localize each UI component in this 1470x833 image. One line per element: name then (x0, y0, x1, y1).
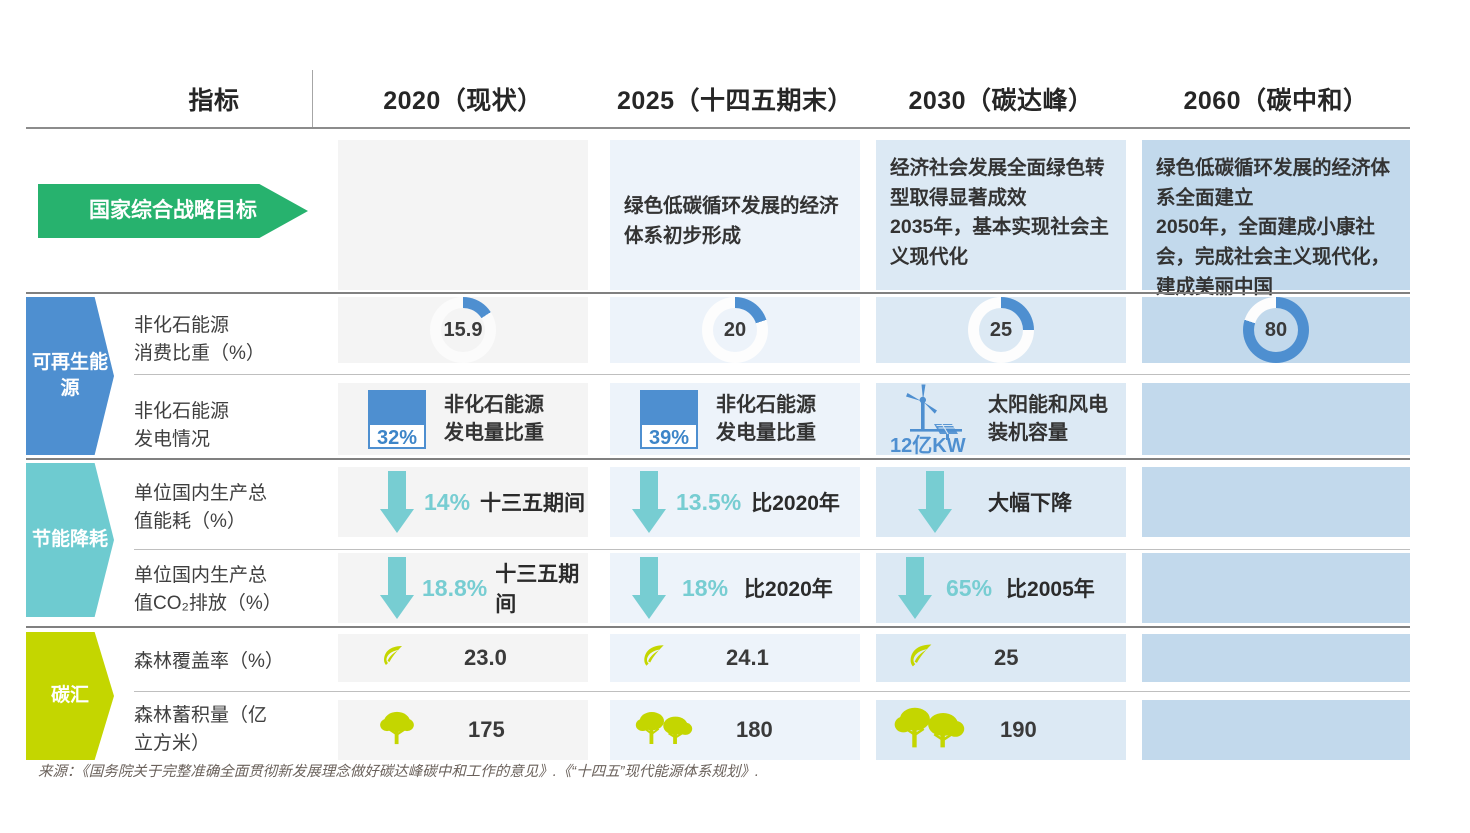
header-col-2020: 2020（现状） (338, 78, 588, 124)
category-label: 碳汇 (51, 683, 89, 709)
down-arrow-icon (898, 557, 932, 619)
strategy-text-2025: 绿色低碳循环发展的经济体系初步形成 (624, 192, 846, 251)
donut-consumption-2030: 25 (876, 297, 1126, 363)
decline-note: 大幅下降 (988, 487, 1072, 517)
pct-badge-32: 32% (368, 390, 426, 448)
cell-forest-stock-2025: 180 (610, 700, 860, 760)
indicator-gdp-co2-intensity: 单位国内生产总 值CO₂排放（%） (134, 562, 334, 617)
down-arrow-icon (918, 471, 952, 533)
header-col-2030: 2030（碳达峰） (876, 78, 1126, 124)
caption-generation-2025: 非化石能源 发电量比重 (716, 391, 816, 447)
cell-energy-intensity-2060 (1142, 467, 1410, 537)
cell-forest-coverage-2020: 23.0 (338, 634, 588, 682)
decline-note: 十三五期间 (480, 487, 585, 517)
decline-note: 比2020年 (744, 573, 833, 603)
leaf-icon (380, 643, 406, 674)
row-separator-carbon-sink (134, 691, 1410, 692)
decline-note: 比2020年 (751, 487, 840, 517)
decline-pct: 13.5% (676, 489, 741, 516)
category-energy-saving: 节能降耗 (26, 463, 114, 617)
donut-ring: 20 (702, 297, 768, 363)
category-label: 节能降耗 (32, 527, 108, 553)
caption-generation-2030: 太阳能和风电 装机容量 (988, 391, 1108, 447)
down-arrow-icon (632, 471, 666, 533)
header-indicator: 指标 (114, 78, 314, 124)
row-separator-renewable (134, 374, 1410, 375)
cell-forest-stock-2020: 175 (338, 700, 588, 760)
caption-generation-2020: 非化石能源 发电量比重 (444, 391, 544, 447)
category-national-strategy: 国家综合战略目标 (38, 184, 308, 238)
decline-pct: 18% (682, 575, 728, 602)
decline-note: 比2005年 (1006, 573, 1095, 603)
header-divider (312, 70, 313, 128)
strategy-text-2060: 绿色低碳循环发展的经济体系全面建立 2050年，全面建成小康社会，完成社会主义现… (1156, 157, 1390, 298)
cell-forest-stock-2030: 190 (876, 700, 1126, 760)
source-note: 来源：《国务院关于完整准确全面贯彻新发展理念做好碳达峰碳中和工作的意见》.《“十… (38, 760, 759, 781)
group-separator-3 (26, 626, 1410, 628)
value-forest-coverage-2025: 24.1 (726, 645, 769, 671)
pct-badge-39: 39% (640, 390, 698, 448)
value-forest-stock-2030: 190 (1000, 717, 1037, 743)
leaf-icon (640, 642, 668, 675)
donut-consumption-2020: 15.9 (338, 297, 588, 363)
cell-co2-intensity-2020: 18.8% 十三五期间 (338, 553, 588, 623)
decline-pct: 65% (946, 575, 992, 602)
group-separator-1 (26, 292, 1410, 294)
donut-value: 15.9 (430, 297, 496, 363)
donut-value: 25 (968, 297, 1034, 363)
category-label: 可再生能源 (26, 350, 114, 401)
row-separator-energy-saving (134, 549, 1410, 550)
donut-ring: 25 (968, 297, 1034, 363)
cell-generation-2060 (1142, 383, 1410, 455)
strategy-cell-2025: 绿色低碳循环发展的经济体系初步形成 (610, 140, 860, 290)
cell-forest-coverage-2060 (1142, 634, 1410, 682)
leaf-icon (906, 641, 936, 676)
group-separator-2 (26, 458, 1410, 460)
decline-note: 十三五期间 (495, 558, 588, 618)
cell-co2-intensity-2030: 65% 比2005年 (876, 553, 1126, 623)
cell-co2-intensity-2025: 18% 比2020年 (610, 553, 860, 623)
indicator-gdp-energy-intensity: 单位国内生产总 值能耗（%） (134, 480, 334, 535)
value-forest-stock-2020: 175 (468, 717, 505, 743)
donut-consumption-2025: 20 (610, 297, 860, 363)
strategy-cell-2060: 绿色低碳循环发展的经济体系全面建立 2050年，全面建成小康社会，完成社会主义现… (1142, 140, 1410, 290)
header-col-2060: 2060（碳中和） (1142, 78, 1410, 124)
donut-ring: 80 (1243, 297, 1309, 363)
header-rule (26, 127, 1410, 129)
header-col-2025: 2025（十四五期末） (610, 78, 860, 124)
strategy-cell-2020 (338, 140, 588, 290)
cell-forest-coverage-2025: 24.1 (610, 634, 860, 682)
cell-forest-stock-2060 (1142, 700, 1410, 760)
cell-generation-2025: 39% 非化石能源 发电量比重 (610, 383, 860, 455)
donut-value: 20 (702, 297, 768, 363)
wind-capacity-value: 12亿KW (890, 429, 982, 458)
tree-icon (632, 706, 696, 755)
decline-pct: 14% (424, 489, 470, 516)
cell-co2-intensity-2060 (1142, 553, 1410, 623)
value-forest-coverage-2020: 23.0 (464, 645, 507, 671)
tree-icon (374, 707, 420, 754)
pct-badge-value: 32% (368, 423, 426, 449)
value-forest-stock-2025: 180 (736, 717, 773, 743)
down-arrow-icon (380, 471, 414, 533)
cell-energy-intensity-2020: 14% 十三五期间 (338, 467, 588, 537)
down-arrow-icon (632, 557, 666, 619)
indicator-forest-coverage: 森林覆盖率（%） (134, 648, 334, 676)
indicator-nonfossil-consumption: 非化石能源 消费比重（%） (134, 312, 334, 367)
cell-generation-2030: 12亿KW 太阳能和风电 装机容量 (876, 383, 1126, 455)
donut-consumption-2060: 80 (1142, 297, 1410, 363)
strategy-cell-2030: 经济社会发展全面绿色转型取得显著成效 2035年，基本实现社会主义现代化 (876, 140, 1126, 290)
decline-pct: 18.8% (422, 575, 487, 602)
wind-turbine-solar-icon: 12亿KW (890, 384, 974, 454)
indicator-nonfossil-generation: 非化石能源 发电情况 (134, 398, 334, 453)
tree-icon (892, 703, 966, 758)
pct-badge-value: 39% (640, 423, 698, 449)
cell-energy-intensity-2025: 13.5% 比2020年 (610, 467, 860, 537)
category-renewable-energy: 可再生能源 (26, 297, 114, 455)
category-label: 国家综合战略目标 (89, 197, 257, 225)
donut-value: 80 (1243, 297, 1309, 363)
strategy-text-2030: 经济社会发展全面绿色转型取得显著成效 2035年，基本实现社会主义现代化 (890, 157, 1109, 268)
down-arrow-icon (380, 557, 414, 619)
donut-ring: 15.9 (430, 297, 496, 363)
cell-energy-intensity-2030: 大幅下降 (876, 467, 1126, 537)
category-carbon-sink: 碳汇 (26, 632, 114, 760)
indicator-forest-stock: 森林蓄积量（亿 立方米） (134, 702, 334, 757)
value-forest-coverage-2030: 25 (994, 645, 1018, 671)
cell-generation-2020: 32% 非化石能源 发电量比重 (338, 383, 588, 455)
cell-forest-coverage-2030: 25 (876, 634, 1126, 682)
